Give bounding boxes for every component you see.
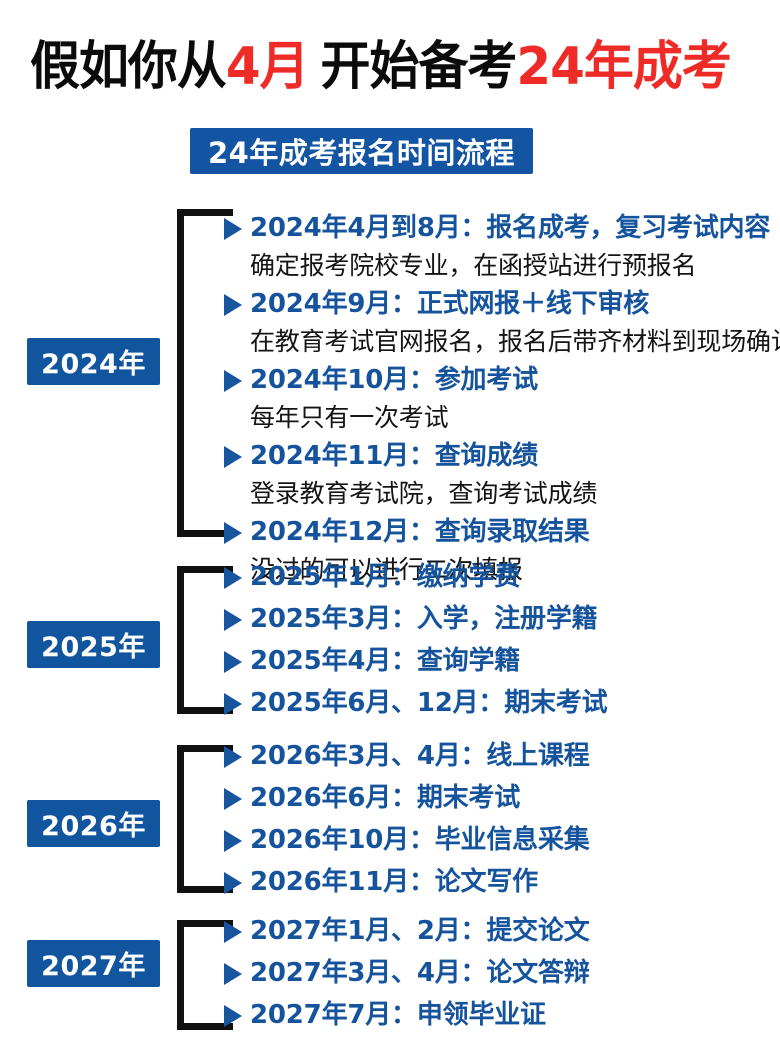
item-title: 2026年10月：毕业信息采集 [250, 821, 590, 859]
item-title: 2025年4月：查询学籍 [250, 642, 520, 680]
triangle-bullet-icon [224, 693, 242, 715]
list-item: 2024年4月到8月：报名成考，复习考试内容 [224, 209, 780, 247]
year-badge-2025: 2025年 [27, 621, 160, 668]
item-title: 2026年11月：论文写作 [250, 863, 538, 901]
page-title: 假如你从4月开始备考24年成考 [30, 36, 731, 98]
list-item: 2027年7月：申领毕业证 [224, 996, 780, 1034]
group-2026: 2026年3月、4月：线上课程 2026年6月：期末考试 2026年10月：毕业… [224, 737, 780, 901]
item-description: 每年只有一次考试 [224, 399, 780, 437]
item-title: 2027年7月：申领毕业证 [250, 996, 546, 1034]
list-item: 2027年3月、4月：论文答辩 [224, 954, 780, 992]
year-badge-2027-label: 2027年 [41, 944, 146, 983]
list-item: 2025年4月：查询学籍 [224, 642, 780, 680]
group-2027: 2027年1月、2月：提交论文 2027年3月、4月：论文答辩 2027年7月：… [224, 912, 780, 1034]
year-badge-2025-label: 2025年 [41, 625, 146, 664]
sub-banner: 24年成考报名时间流程 [190, 128, 533, 174]
triangle-bullet-icon [224, 218, 242, 240]
item-title: 2025年6月、12月：期末考试 [250, 684, 607, 722]
page-title-part-3: 开始备考 [321, 41, 517, 93]
item-title: 2026年6月：期末考试 [250, 779, 520, 817]
triangle-bullet-icon [224, 370, 242, 392]
triangle-bullet-icon [224, 830, 242, 852]
item-title: 2024年10月：参加考试 [250, 361, 538, 399]
triangle-bullet-icon [224, 567, 242, 589]
year-badge-2026-label: 2026年 [41, 804, 146, 843]
list-item: 2025年6月、12月：期末考试 [224, 684, 780, 722]
group-2025: 2025年1月：缴纳学费 2025年3月：入学，注册学籍 2025年4月：查询学… [224, 558, 780, 722]
item-description: 在教育考试官网报名，报名后带齐材料到现场确认 [224, 323, 780, 361]
triangle-bullet-icon [224, 746, 242, 768]
sub-banner-label: 24年成考报名时间流程 [208, 130, 515, 172]
triangle-bullet-icon [224, 522, 242, 544]
item-title: 2027年1月、2月：提交论文 [250, 912, 590, 950]
triangle-bullet-icon [224, 609, 242, 631]
page-title-part-1: 假如你从 [30, 41, 226, 93]
list-item: 2025年1月：缴纳学费 [224, 558, 780, 596]
list-item: 2024年11月：查询成绩 [224, 437, 780, 475]
triangle-bullet-icon [224, 872, 242, 894]
triangle-bullet-icon [224, 921, 242, 943]
triangle-bullet-icon [224, 651, 242, 673]
infographic-page: { "colors": { "brand_blue": "#11559f", "… [0, 0, 780, 1043]
year-badge-2024: 2024年 [27, 338, 160, 385]
item-title: 2024年12月：查询录取结果 [250, 513, 590, 551]
triangle-bullet-icon [224, 788, 242, 810]
list-item: 2024年12月：查询录取结果 [224, 513, 780, 551]
item-title: 2025年1月：缴纳学费 [250, 558, 520, 596]
item-title: 2025年3月：入学，注册学籍 [250, 600, 597, 638]
item-title: 2024年4月到8月：报名成考，复习考试内容 [250, 209, 770, 247]
triangle-bullet-icon [224, 294, 242, 316]
year-badge-2026: 2026年 [27, 800, 160, 847]
triangle-bullet-icon [224, 1005, 242, 1027]
list-item: 2024年10月：参加考试 [224, 361, 780, 399]
item-description: 确定报考院校专业，在函授站进行预报名 [224, 247, 780, 285]
list-item: 2025年3月：入学，注册学籍 [224, 600, 780, 638]
list-item: 2024年9月：正式网报＋线下审核 [224, 285, 780, 323]
page-title-highlight-month: 4月 [226, 41, 309, 93]
item-description: 登录教育考试院，查询考试成绩 [224, 475, 780, 513]
item-title: 2026年3月、4月：线上课程 [250, 737, 590, 775]
year-badge-2024-label: 2024年 [41, 342, 146, 381]
year-badge-2027: 2027年 [27, 940, 160, 987]
list-item: 2026年11月：论文写作 [224, 863, 780, 901]
item-title: 2024年11月：查询成绩 [250, 437, 538, 475]
list-item: 2026年10月：毕业信息采集 [224, 821, 780, 859]
item-title: 2027年3月、4月：论文答辩 [250, 954, 590, 992]
page-title-highlight-exam: 24年成考 [516, 41, 730, 93]
item-title: 2024年9月：正式网报＋线下审核 [250, 285, 649, 323]
list-item: 2027年1月、2月：提交论文 [224, 912, 780, 950]
list-item: 2026年3月、4月：线上课程 [224, 737, 780, 775]
triangle-bullet-icon [224, 963, 242, 985]
group-2024: 2024年4月到8月：报名成考，复习考试内容 确定报考院校专业，在函授站进行预报… [224, 209, 780, 589]
triangle-bullet-icon [224, 446, 242, 468]
list-item: 2026年6月：期末考试 [224, 779, 780, 817]
